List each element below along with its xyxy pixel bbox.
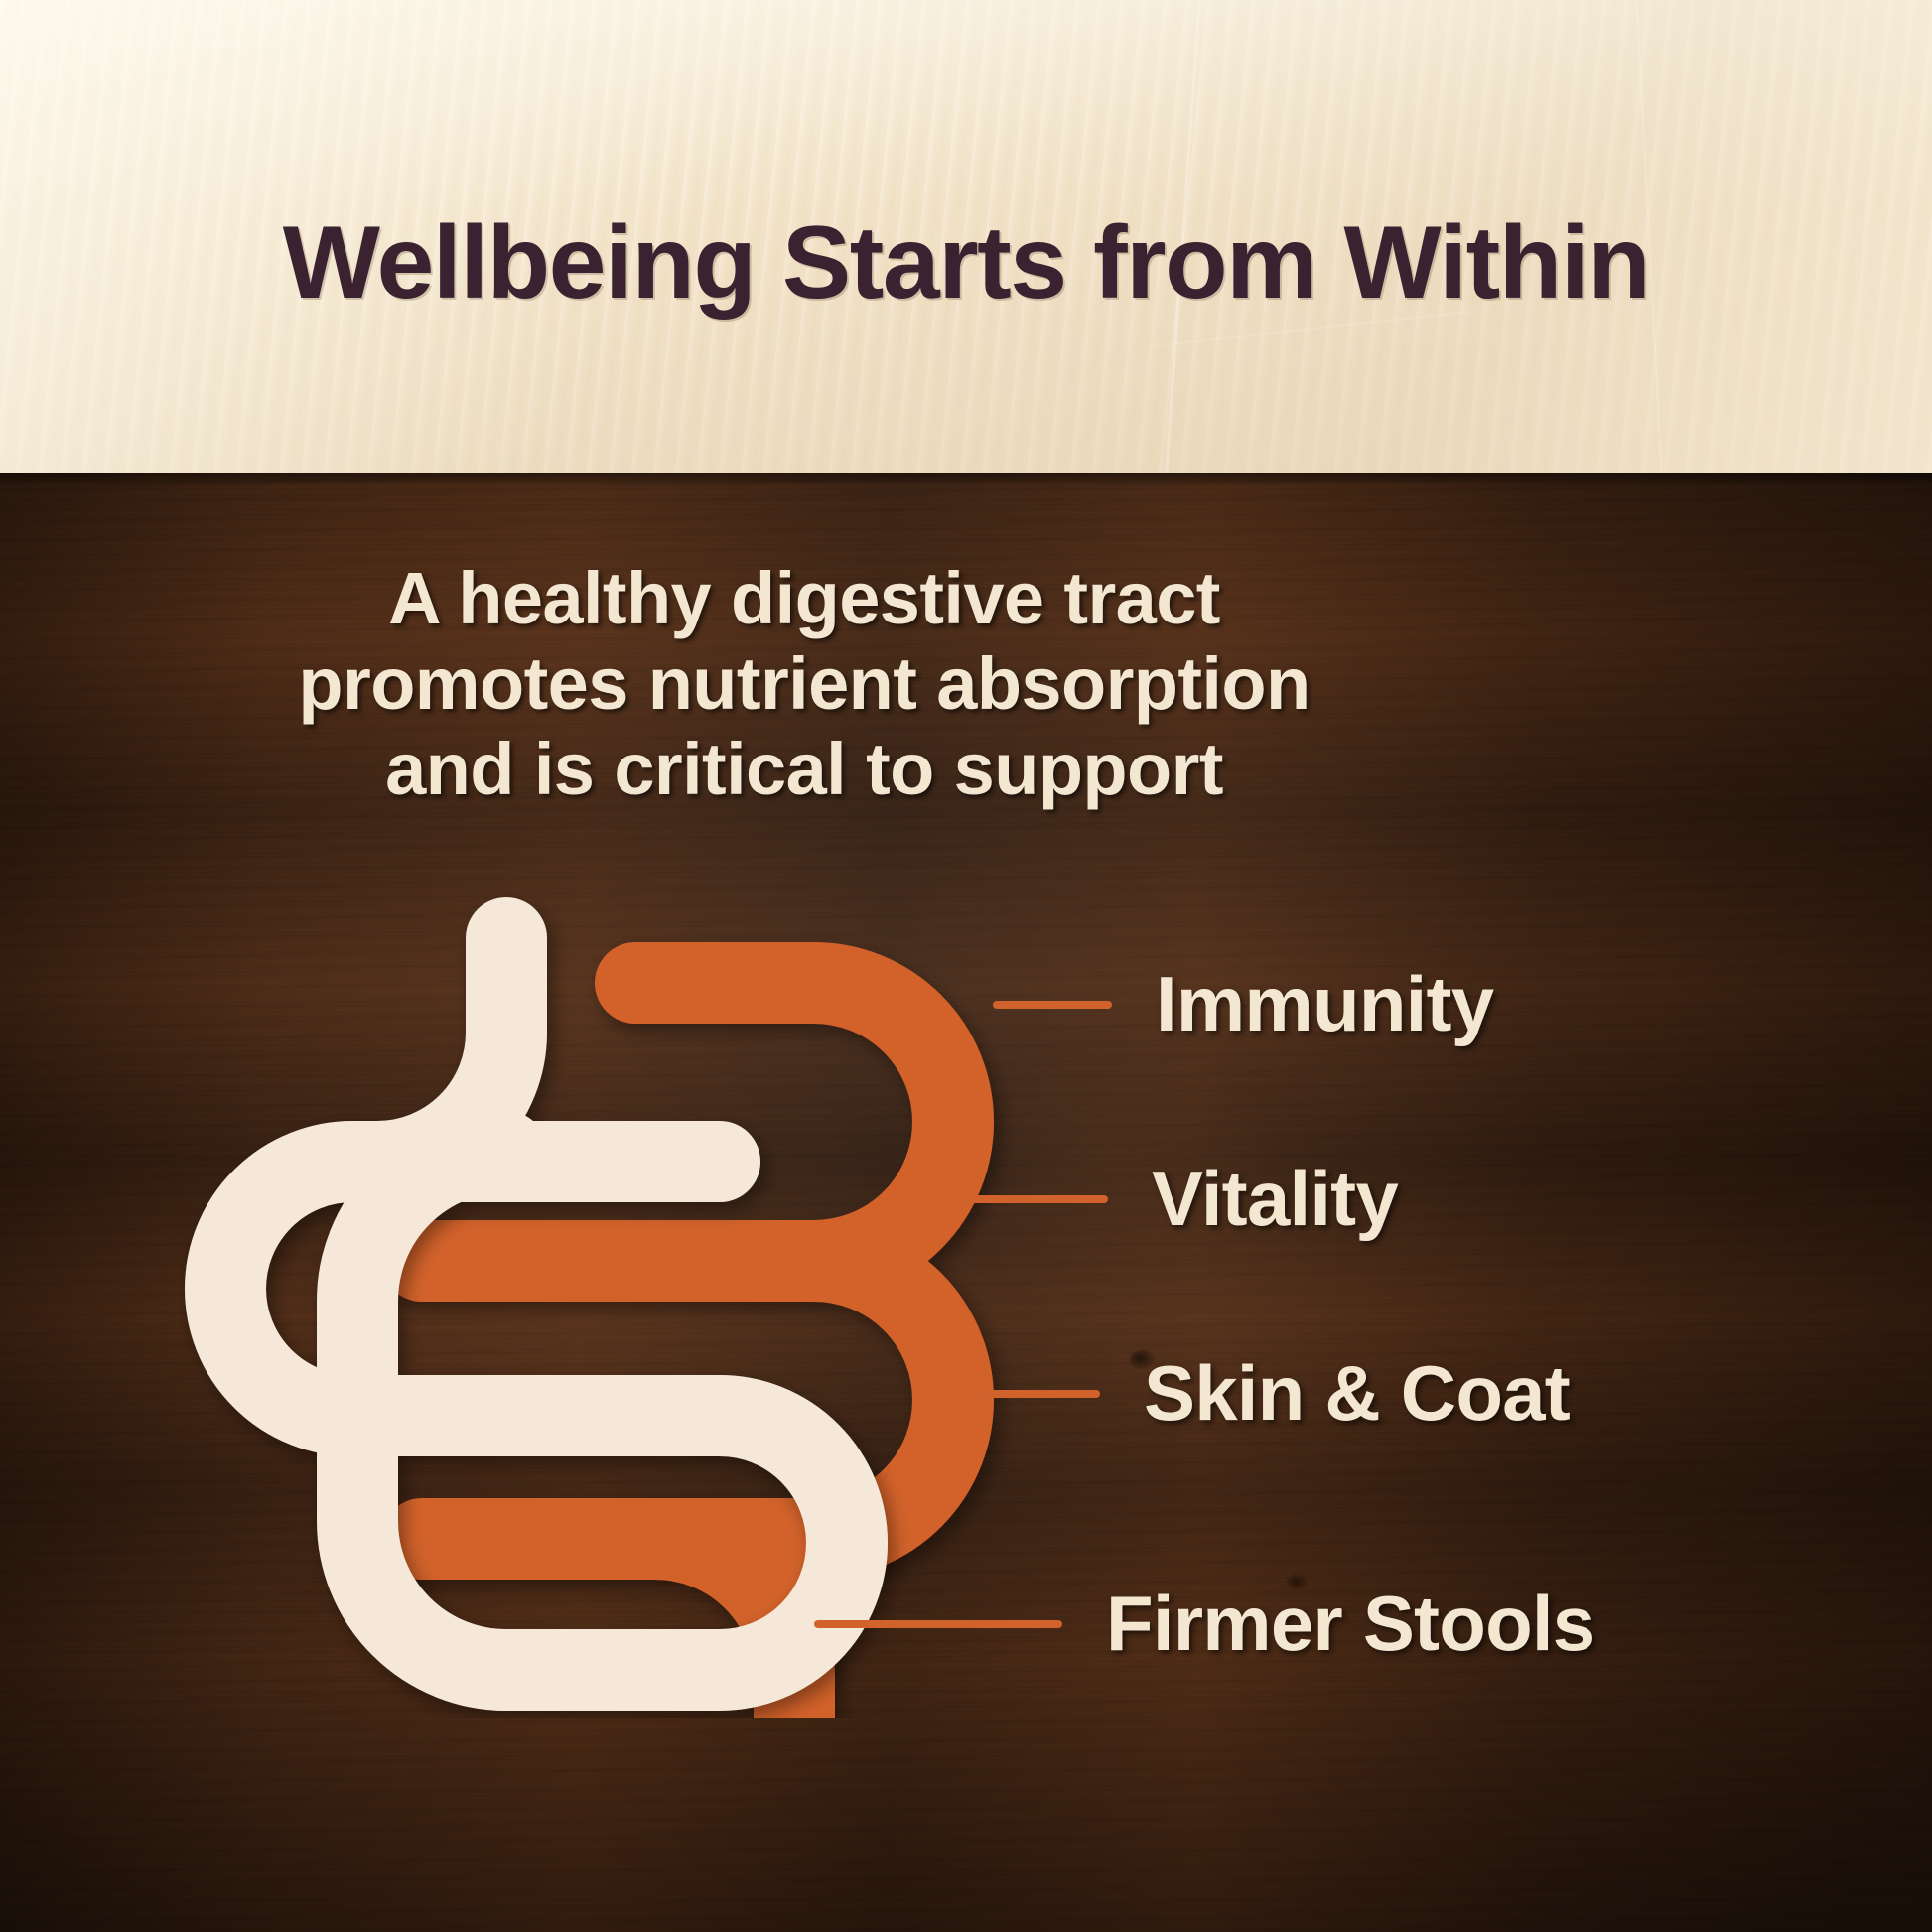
benefit-row-vitality[interactable]: Vitality [961, 1154, 1398, 1244]
benefit-label-skin-and-coat: Skin & Coat [1144, 1348, 1570, 1439]
header-drop-shadow [0, 473, 1932, 486]
poster-root: Wellbeing Starts from Within A healthy d… [0, 0, 1932, 1932]
page-title: Wellbeing Starts from Within [0, 211, 1932, 315]
benefit-row-skin-and-coat[interactable]: Skin & Coat [961, 1348, 1570, 1439]
body-line-2: promotes nutrient absorption [238, 641, 1370, 727]
connector-dash-icon [993, 1001, 1112, 1009]
header-scratch-3 [60, 39, 437, 54]
connector-dash-icon [961, 1390, 1100, 1398]
benefit-label-immunity: Immunity [1156, 959, 1493, 1049]
benefit-label-firmer-stools: Firmer Stools [1106, 1579, 1594, 1669]
benefit-row-immunity[interactable]: Immunity [993, 959, 1493, 1049]
body-line-3: and is critical to support [238, 727, 1370, 812]
connector-dash-icon [961, 1195, 1108, 1203]
connector-dash-icon [814, 1620, 1062, 1628]
body-copy: A healthy digestive tract promotes nutri… [238, 556, 1370, 811]
benefit-label-vitality: Vitality [1152, 1154, 1398, 1244]
header-band: Wellbeing Starts from Within [0, 0, 1932, 473]
body-line-1: A healthy digestive tract [238, 556, 1370, 641]
benefit-row-firmer-stools[interactable]: Firmer Stools [814, 1579, 1594, 1669]
